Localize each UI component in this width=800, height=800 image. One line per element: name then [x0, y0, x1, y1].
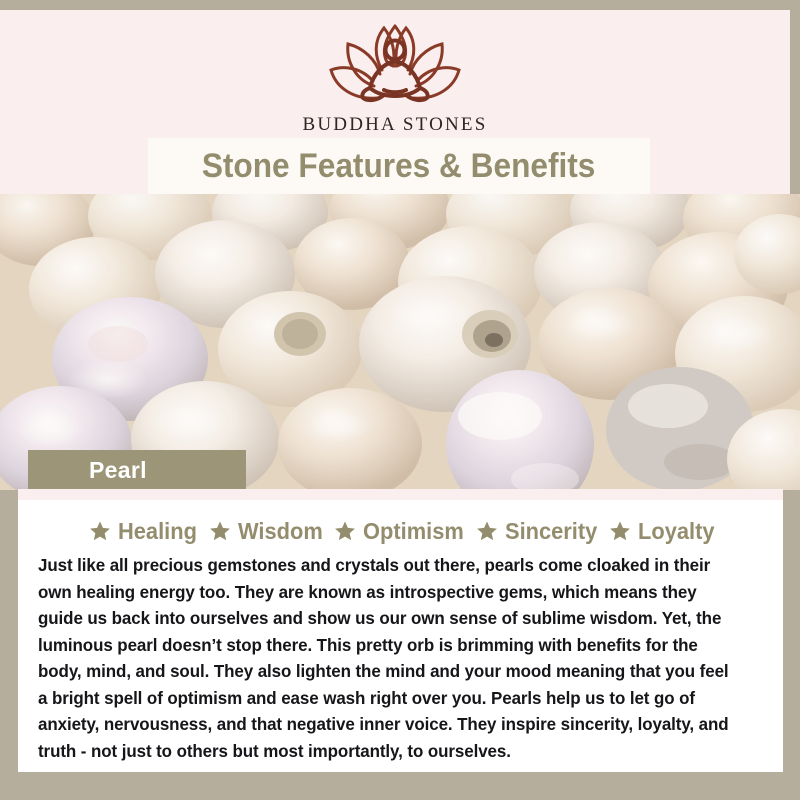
- poster-root: BUDDHA STONES Stone Features & Benefits: [0, 0, 800, 800]
- star-icon: [334, 520, 356, 542]
- brand-wordmark: BUDDHA STONES: [0, 114, 790, 136]
- benefit-label: Loyalty: [638, 518, 715, 545]
- brand-logo-block: BUDDHA STONES: [0, 18, 790, 136]
- list-item: Healing: [82, 518, 201, 545]
- star-icon: [89, 520, 111, 542]
- page-title: Stone Features & Benefits: [202, 147, 596, 186]
- lotus-meditation-icon: [320, 18, 470, 110]
- star-icon: [209, 520, 231, 542]
- pearl-photo: Pearl: [0, 194, 800, 490]
- description-text: Just like all precious gemstones and cry…: [38, 552, 741, 764]
- benefit-label: Healing: [118, 518, 197, 545]
- benefit-label: Sincerity: [505, 518, 597, 545]
- photo-caption-bar: Pearl: [28, 450, 246, 490]
- list-item: Optimism: [327, 518, 469, 545]
- star-icon: [476, 520, 498, 542]
- pearl-photo-graphic: [0, 194, 800, 490]
- content-card: Healing Wisdom Optimism Sincerity: [18, 500, 783, 772]
- benefit-label: Wisdom: [238, 518, 323, 545]
- benefit-label: Optimism: [363, 518, 464, 545]
- list-item: Sincerity: [469, 518, 602, 545]
- benefits-list: Healing Wisdom Optimism Sincerity: [18, 500, 783, 548]
- title-banner: Stone Features & Benefits: [148, 138, 650, 194]
- photo-caption-label: Pearl: [89, 457, 147, 484]
- list-item: Wisdom: [202, 518, 327, 545]
- star-icon: [609, 520, 631, 542]
- list-item: Loyalty: [602, 518, 719, 545]
